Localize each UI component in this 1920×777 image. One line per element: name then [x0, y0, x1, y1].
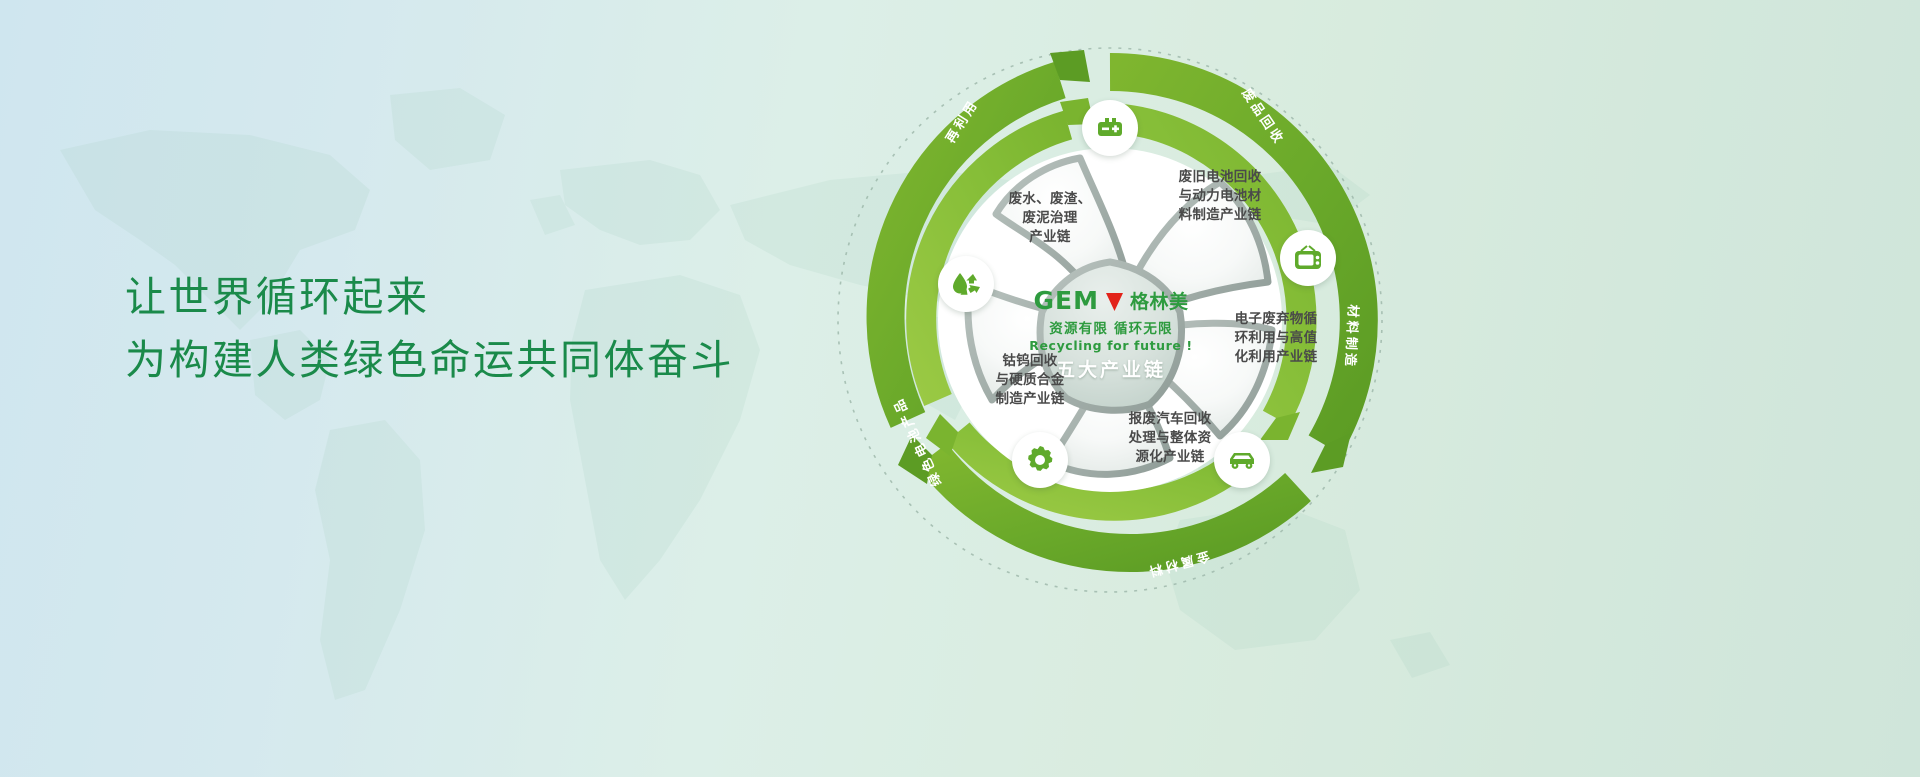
gem-tagline-en: Recycling for future ! — [996, 338, 1226, 353]
headline-line-1: 让世界循环起来 — [125, 266, 734, 329]
segment-label-e-waste: 电子废弃物循 环利用与高值 化利用产业链 — [1206, 310, 1346, 367]
gem-logo-chinese: 格林美 — [1130, 287, 1189, 314]
segment-label-waste-water: 废水、废渣、 废泥治理 产业链 — [980, 190, 1120, 247]
gear-icon-badge[interactable] — [1012, 432, 1068, 488]
segment-label-cobalt-tungsten: 钴钨回收 与硬质合金 制造产业链 — [960, 352, 1100, 409]
gem-logo-wordmark: GEM 格林美 — [996, 286, 1226, 315]
recycle-drop-icon — [950, 271, 982, 297]
television-icon-badge[interactable] — [1280, 230, 1336, 286]
television-icon — [1293, 244, 1323, 272]
gem-logo-mark-icon — [1106, 291, 1123, 311]
battery-icon — [1096, 114, 1124, 142]
ring-label-material-manufacturing: 材料制造 — [1342, 304, 1364, 370]
car-icon — [1227, 448, 1257, 472]
battery-icon-badge[interactable] — [1082, 100, 1138, 156]
headline-line-2: 为构建人类绿色命运共同体奋斗 — [125, 329, 734, 392]
segment-label-waste-battery: 废旧电池回收 与动力电池材 料制造产业链 — [1150, 168, 1290, 225]
five-industry-chain-diagram: GEM 格林美 资源有限 循环无限 Recycling for future !… — [828, 0, 1388, 640]
headline-block: 让世界循环起来 为构建人类绿色命运共同体奋斗 — [125, 266, 734, 392]
gem-tagline-cn: 资源有限 循环无限 — [996, 317, 1226, 337]
recycle-drop-icon-badge[interactable] — [938, 256, 994, 312]
banner-stage: 让世界循环起来 为构建人类绿色命运共同体奋斗 — [0, 0, 1920, 777]
gem-logo-text: GEM — [1034, 286, 1099, 315]
gem-logo: GEM 格林美 资源有限 循环无限 Recycling for future ! — [996, 286, 1226, 353]
gear-icon — [1025, 445, 1055, 475]
car-icon-badge[interactable] — [1214, 432, 1270, 488]
